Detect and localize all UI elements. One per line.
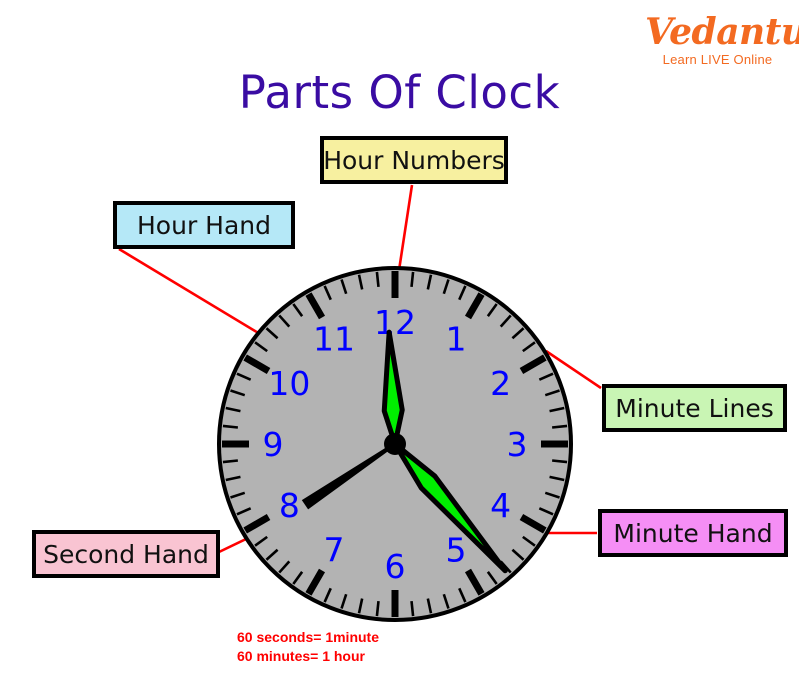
minute-tick — [412, 272, 414, 287]
minute-tick — [377, 272, 379, 287]
minute-tick — [552, 461, 567, 463]
callout-label-text: Minute Hand — [613, 519, 772, 548]
callout-label-text: Hour Hand — [137, 211, 271, 240]
hour-number-2: 2 — [490, 364, 511, 403]
callout-label-text: Second Hand — [43, 540, 209, 569]
hour-number-9: 9 — [263, 425, 284, 464]
hour-number-10: 10 — [268, 364, 310, 403]
hour-number-1: 1 — [446, 319, 467, 358]
hour-number-11: 11 — [313, 319, 355, 358]
minute-tick — [377, 601, 379, 616]
hour-number-12: 12 — [374, 303, 416, 342]
callout-label-text: Minute Lines — [615, 394, 773, 423]
hour-number-8: 8 — [279, 486, 300, 525]
callout-minute-hand[interactable]: Minute Hand — [598, 509, 788, 557]
hour-number-6: 6 — [385, 547, 406, 586]
minute-tick — [223, 461, 238, 463]
callout-hour-hand[interactable]: Hour Hand — [113, 201, 295, 249]
hour-number-5: 5 — [446, 531, 467, 570]
hour-number-7: 7 — [324, 531, 345, 570]
minute-tick — [223, 426, 238, 428]
hour-number-4: 4 — [490, 486, 511, 525]
minute-tick — [412, 601, 414, 616]
callout-hour-numbers[interactable]: Hour Numbers — [320, 136, 508, 184]
callout-minute-lines[interactable]: Minute Lines — [602, 384, 787, 432]
hour-number-3: 3 — [507, 425, 528, 464]
callout-label-text: Hour Numbers — [323, 146, 505, 175]
clock-center-pivot — [384, 433, 406, 455]
callout-second-hand[interactable]: Second Hand — [32, 530, 220, 578]
diagram-canvas: Vedantu Learn LIVE Online Parts Of Clock… — [0, 0, 799, 678]
minute-tick — [552, 426, 567, 428]
